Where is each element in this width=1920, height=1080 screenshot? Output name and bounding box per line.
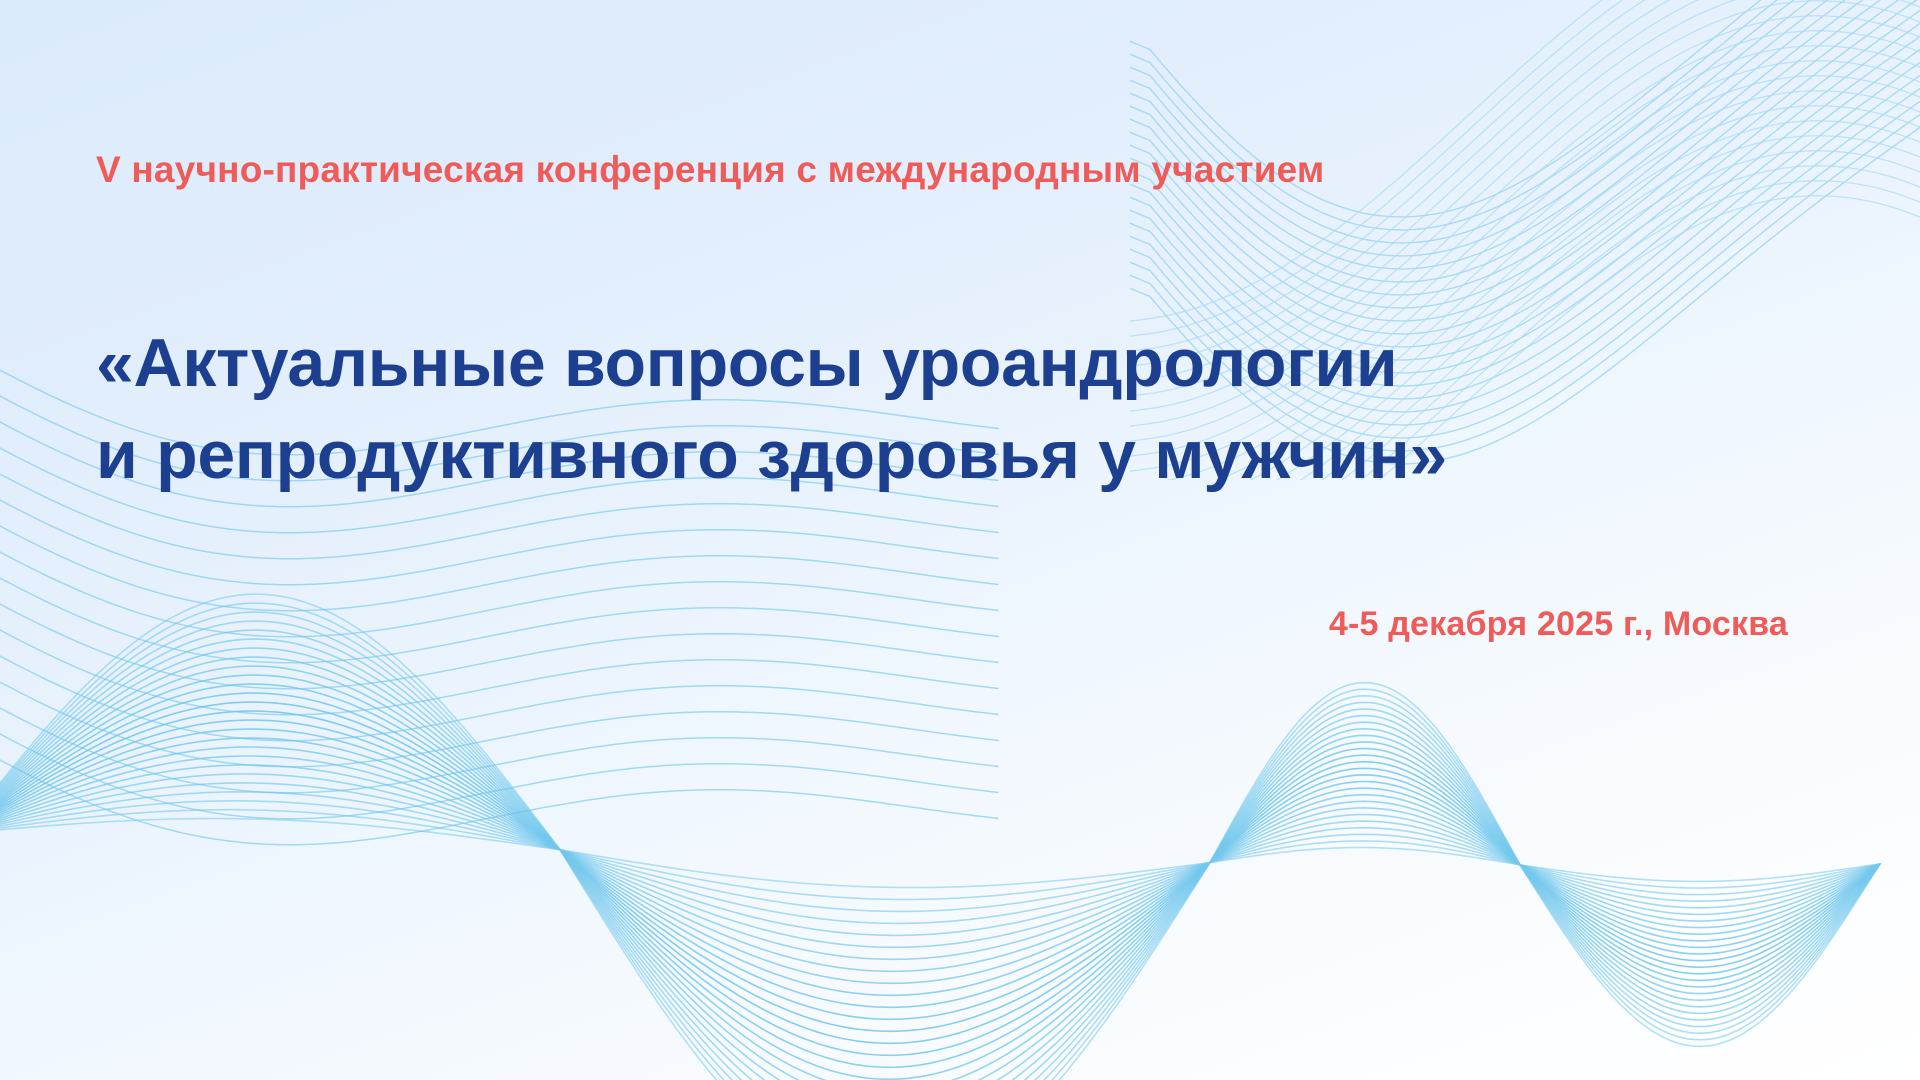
poster-content: V научно-практическая конференция с межд… (0, 0, 1920, 1080)
title-line-1: «Актуальные вопросы уроандрологии (96, 318, 1856, 410)
date-and-location: 4-5 декабря 2025 г., Москва (1329, 605, 1788, 644)
conference-eyebrow: V научно-практическая конференция с межд… (96, 148, 1325, 192)
title-line-2: и репродуктивного здоровья у мужчин» (96, 410, 1856, 502)
page-title: «Актуальные вопросы уроандрологии и репр… (96, 318, 1856, 502)
conference-poster: V научно-практическая конференция с межд… (0, 0, 1920, 1080)
